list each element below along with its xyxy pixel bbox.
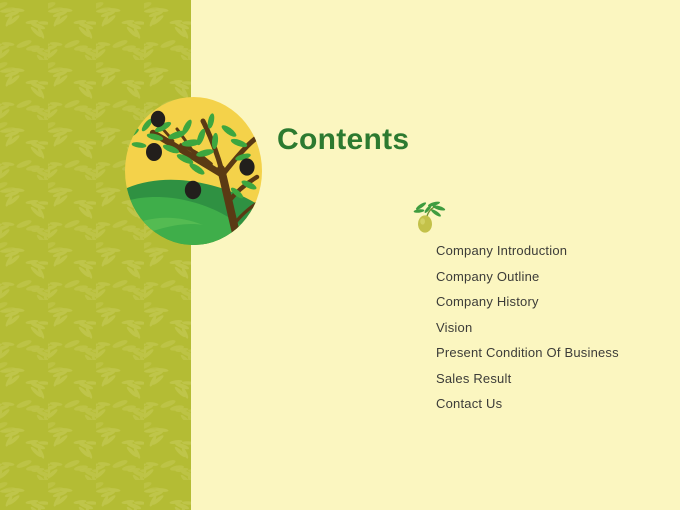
presentation-slide: Contents Company Introduction Company Ou…	[0, 0, 680, 510]
olive-tree-circle-logo	[125, 97, 262, 245]
list-item[interactable]: Present Condition Of Business	[436, 340, 666, 366]
olive-fruit	[418, 215, 432, 232]
page-title: Contents	[277, 123, 409, 157]
list-item[interactable]: Vision	[436, 315, 666, 341]
olive-leaf-sprig-pattern	[0, 0, 191, 510]
list-item[interactable]: Company Introduction	[436, 238, 666, 264]
list-item[interactable]: Company Outline	[436, 264, 666, 290]
list-item[interactable]: Sales Result	[436, 366, 666, 392]
olive-leaves	[413, 201, 445, 218]
list-item[interactable]: Contact Us	[436, 391, 666, 417]
contents-list: Company Introduction Company Outline Com…	[436, 238, 666, 417]
olive-bullet-ornament	[410, 199, 446, 233]
decorative-leaf-panel	[0, 0, 191, 510]
list-item[interactable]: Company History	[436, 289, 666, 315]
olive-highlight	[420, 218, 425, 224]
